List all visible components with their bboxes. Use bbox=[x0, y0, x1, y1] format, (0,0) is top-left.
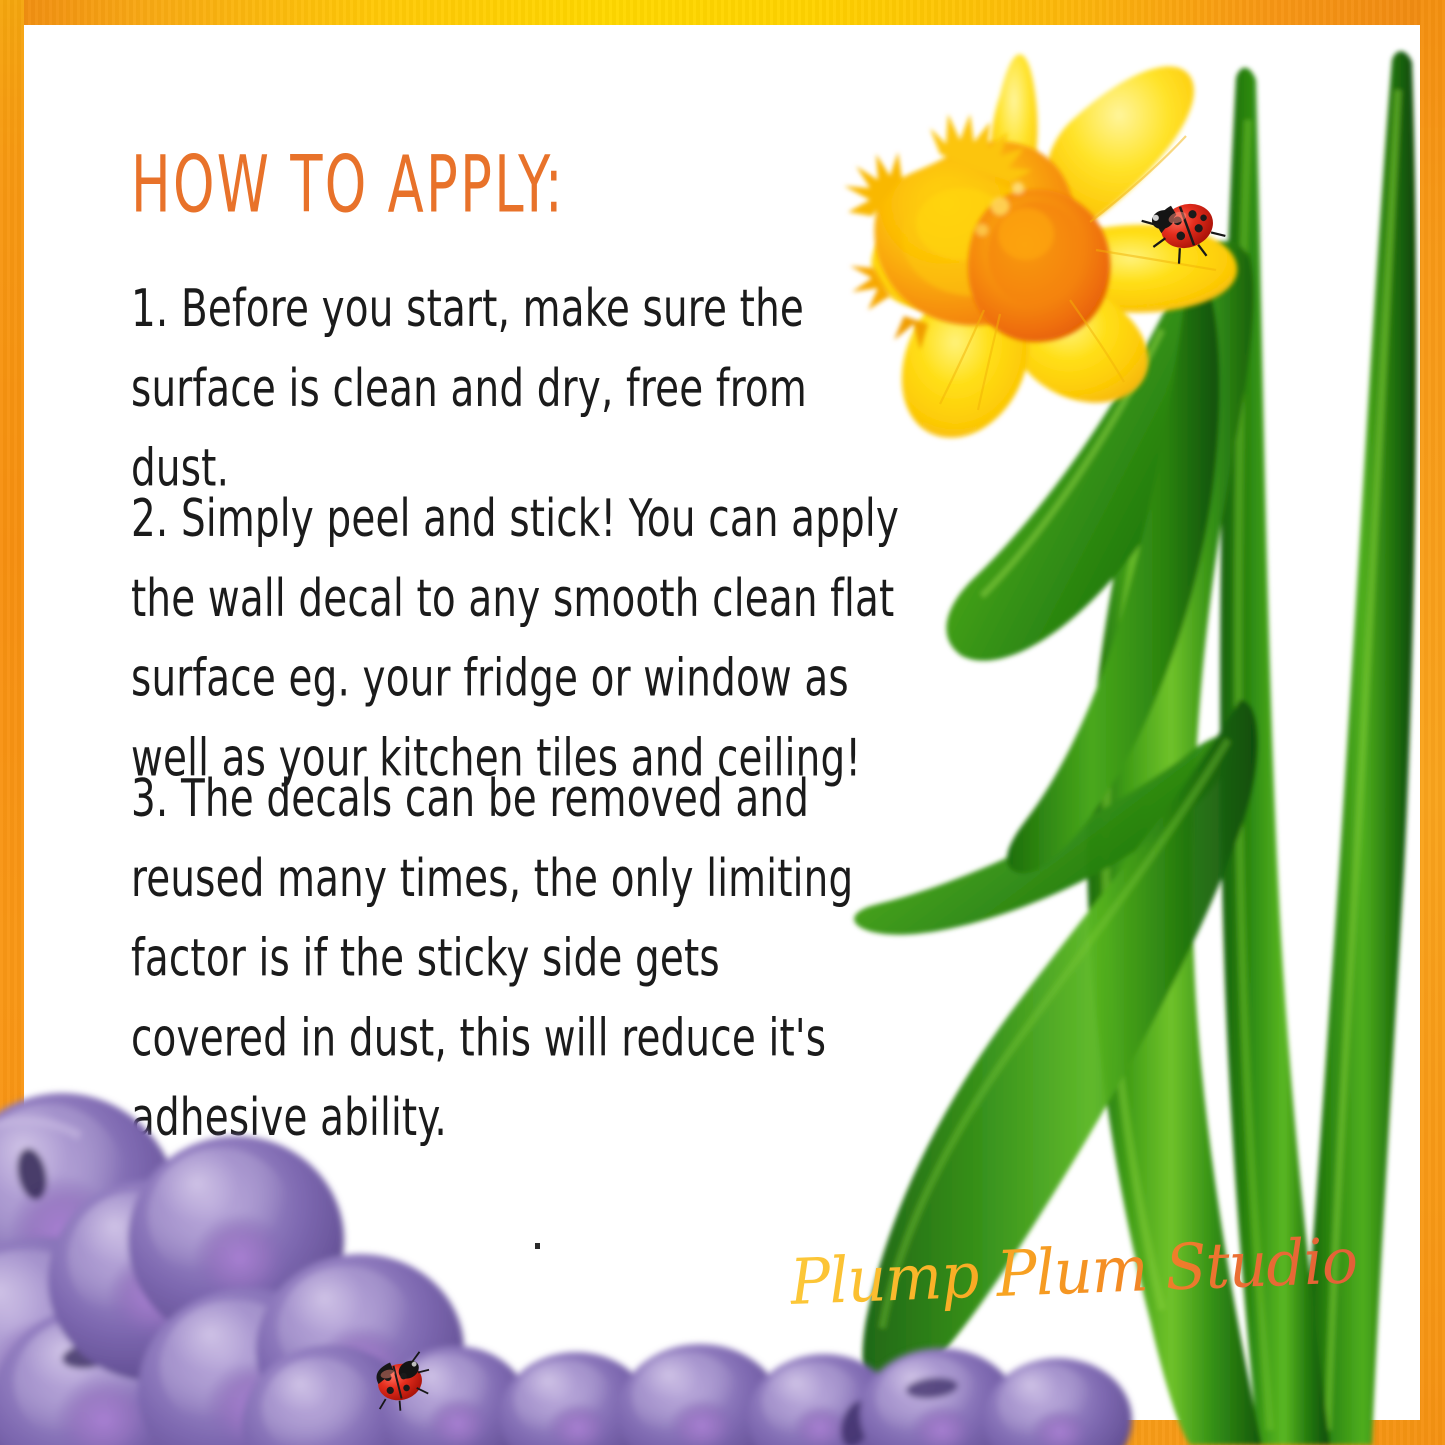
steps-list: 1. Before you start, make sure the surfa… bbox=[131, 269, 911, 1109]
poster-canvas: HOW TO APPLY: 1. Before you start, make … bbox=[0, 0, 1445, 1445]
step-item-3: 3. The decals can be removed and reused … bbox=[131, 759, 861, 1158]
plum bbox=[382, 1346, 530, 1445]
frame-left-border bbox=[0, 0, 24, 1445]
stray-punctuation-mark bbox=[535, 1243, 540, 1249]
plum bbox=[748, 1354, 900, 1445]
plum bbox=[0, 1237, 170, 1445]
plum bbox=[618, 1344, 782, 1445]
plum bbox=[48, 1180, 252, 1380]
ladybug-icon bbox=[1140, 192, 1229, 273]
instructions-block: HOW TO APPLY: 1. Before you start, make … bbox=[131, 146, 911, 1109]
plum bbox=[0, 1305, 208, 1445]
plum bbox=[500, 1352, 652, 1445]
brand-signature: Plump Plum Studio bbox=[789, 1224, 1359, 1319]
plum bbox=[256, 1254, 464, 1445]
plum bbox=[860, 1348, 1020, 1445]
frame-top-border bbox=[0, 0, 1445, 25]
plum bbox=[984, 1358, 1132, 1445]
page-title: HOW TO APPLY: bbox=[131, 146, 856, 224]
ladybug-icon bbox=[369, 1351, 437, 1416]
plum bbox=[128, 1136, 344, 1344]
step-item-2: 2. Simply peel and stick! You can apply … bbox=[131, 479, 904, 798]
step-item-1: 1. Before you start, make sure the surfa… bbox=[131, 269, 837, 508]
frame-bottom-border bbox=[0, 1420, 1445, 1445]
plum bbox=[138, 1288, 362, 1445]
plum bbox=[242, 1345, 418, 1445]
frame-right-border bbox=[1420, 0, 1445, 1445]
